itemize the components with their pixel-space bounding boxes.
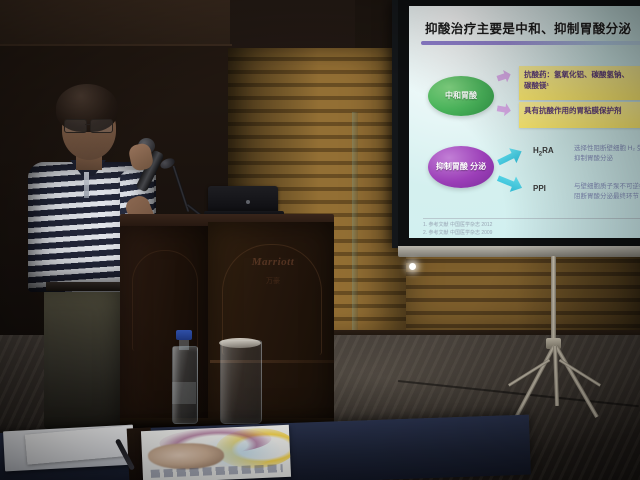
- drug-name-tail: RA: [542, 146, 554, 155]
- screen-bottom-bar: [398, 246, 640, 257]
- slide-title: 抑酸治疗主要是中和、抑制胃酸分泌: [425, 18, 640, 37]
- glass-partition-edge: [352, 112, 358, 340]
- arrow-cyan-down-icon: [495, 170, 526, 196]
- slide-drug-desc-ppi: 与壁细胞质子泵不可逆结合， 阻断胃酸分泌最终环节: [574, 182, 640, 202]
- bottle-label: [172, 382, 196, 404]
- podium-logo-chinese: 万豪: [243, 276, 303, 286]
- arrow-right-icon: [496, 102, 512, 117]
- presentation-photo: 抑酸治疗主要是中和、抑制胃酸分泌 中和胃酸 抗酸药：氢氧化铝、碳酸氢钠、 碳酸镁…: [0, 0, 640, 480]
- slide-footnote-rule: [423, 218, 640, 219]
- projection-screen: 抑酸治疗主要是中和、抑制胃酸分泌 中和胃酸 抗酸药：氢氧化铝、碳酸氢钠、 碳酸镁…: [392, 0, 640, 262]
- slide-drug-label-h2ra: H2RA: [533, 146, 554, 158]
- slide-yellow-box-protectants: 具有抗酸作用的胃粘膜保护剂: [519, 102, 640, 128]
- screen-frame: 抑酸治疗主要是中和、抑制胃酸分泌 中和胃酸 抗酸药：氢氧化铝、碳酸氢钠、 碳酸镁…: [392, 0, 640, 248]
- laptop-screen[interactable]: [208, 186, 278, 214]
- brochure[interactable]: [141, 425, 291, 480]
- bottle-cap: [176, 330, 192, 340]
- tripod-pole: [551, 256, 556, 344]
- arrow-cyan-up-icon: [494, 143, 525, 171]
- podium-logo: Marriott: [243, 256, 303, 268]
- slide-drug-label-ppi: PPI: [533, 184, 546, 193]
- speaker-placket: [84, 172, 89, 198]
- drinking-glass-rim: [219, 338, 261, 348]
- indicator-led: [409, 263, 416, 270]
- glasses-icon: [64, 119, 116, 131]
- slide-title-rule: [421, 41, 640, 45]
- drinking-glass[interactable]: [220, 340, 262, 424]
- laptop-logo: [246, 200, 250, 204]
- slide-ellipse-neutralize: 中和胃酸: [428, 76, 494, 116]
- water-bottle[interactable]: [172, 330, 196, 422]
- slide-yellow-box-antacids: 抗酸药：氢氧化铝、碳酸氢钠、 碳酸镁¹: [519, 66, 640, 100]
- speaker-trousers: [44, 289, 132, 429]
- presentation-slide: 抑酸治疗主要是中和、抑制胃酸分泌 中和胃酸 抗酸药：氢氧化铝、碳酸氢钠、 碳酸镁…: [409, 6, 640, 238]
- glasses-lens-left: [64, 119, 87, 133]
- glasses-lens-right: [90, 119, 113, 133]
- arrow-right-icon: [495, 68, 512, 85]
- slide-drug-desc-h2ra: 选择性阻断壁细胞 H₂ 受体， 抑制胃酸分泌: [574, 144, 640, 164]
- slide-ellipse-suppress: 抑制胃酸 分泌: [428, 146, 494, 188]
- slide-footnotes: 1. 参考文献 中国医学杂志 2012 2. 参考文献 中国医学杂志 2009: [423, 221, 640, 238]
- wall-upper-strip: [0, 0, 230, 46]
